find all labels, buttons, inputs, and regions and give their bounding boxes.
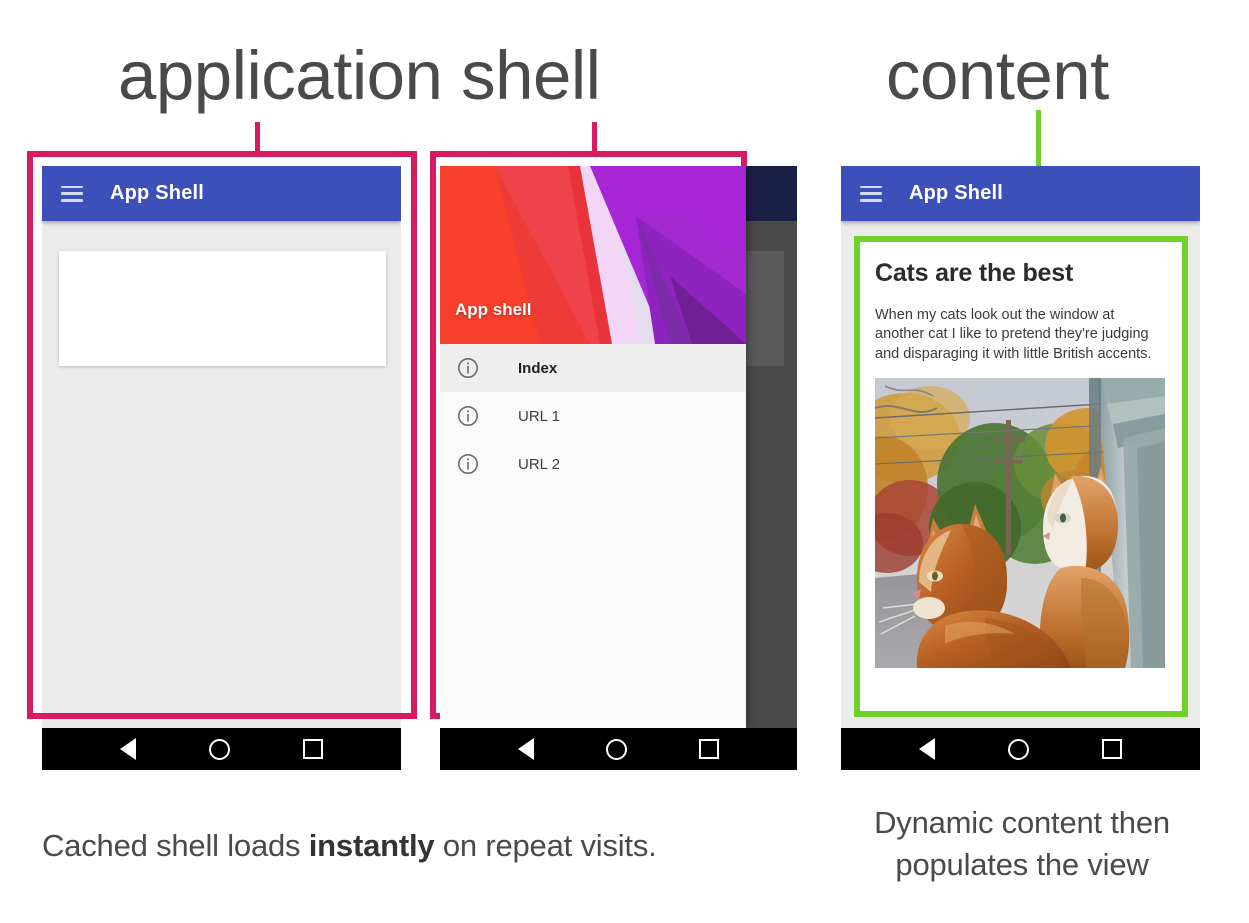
- caption-right: Dynamic content then populates the view: [842, 802, 1202, 885]
- article-photo: [875, 378, 1165, 668]
- recent-apps-icon[interactable]: [1102, 739, 1122, 759]
- recent-apps-icon[interactable]: [303, 739, 323, 759]
- drawer-header-title: App shell: [455, 300, 532, 320]
- phone3-screen: App Shell Cats are the best When my cats…: [841, 166, 1200, 728]
- phone1-placeholder-card: [59, 251, 386, 366]
- phone1-android-nav-bar: [42, 728, 401, 770]
- article-card: Cats are the best When my cats look out …: [855, 237, 1185, 717]
- drawer-item-url-2[interactable]: URL 2: [440, 440, 746, 488]
- caption-left: Cached shell loads instantly on repeat v…: [42, 828, 657, 864]
- info-icon: [456, 452, 480, 476]
- phone3-app-bar-title: App Shell: [909, 182, 1003, 205]
- phone2-android-nav-bar: [440, 728, 797, 770]
- phone1-screen: App Shell: [42, 166, 401, 728]
- phone-mockup-with-content: App Shell Cats are the best When my cats…: [841, 166, 1200, 770]
- hamburger-icon[interactable]: [61, 186, 83, 202]
- phone1-app-bar-title: App Shell: [110, 182, 204, 205]
- phone2-screen: App shell Index: [440, 166, 797, 728]
- drawer-item-label: Index: [518, 360, 557, 377]
- back-icon[interactable]: [120, 738, 136, 760]
- caption-left-post: on repeat visits.: [434, 828, 656, 863]
- connector-stem-shell-left: [255, 122, 260, 155]
- cats-at-window-image: [875, 378, 1165, 668]
- phone3-android-nav-bar: [841, 728, 1200, 770]
- drawer-header-image: App shell: [440, 166, 746, 344]
- annotation-label-application-shell: application shell: [118, 36, 601, 116]
- info-icon: [456, 356, 480, 380]
- info-icon: [456, 404, 480, 428]
- article-title: Cats are the best: [875, 259, 1165, 288]
- hamburger-icon[interactable]: [860, 186, 882, 202]
- annotation-label-content: content: [886, 36, 1109, 116]
- back-icon[interactable]: [919, 738, 935, 760]
- caption-left-emphasis: instantly: [309, 828, 435, 863]
- home-icon[interactable]: [1008, 739, 1029, 760]
- back-icon[interactable]: [518, 738, 534, 760]
- phone3-app-bar: App Shell: [841, 166, 1200, 221]
- home-icon[interactable]: [209, 739, 230, 760]
- navigation-drawer: App shell Index: [440, 166, 746, 728]
- drawer-item-url-1[interactable]: URL 1: [440, 392, 746, 440]
- drawer-item-label: URL 1: [518, 408, 560, 425]
- caption-left-pre: Cached shell loads: [42, 828, 309, 863]
- connector-stem-shell-right: [592, 122, 597, 155]
- phone-mockup-empty-shell: App Shell: [42, 166, 401, 770]
- drawer-item-list: Index URL 1: [440, 344, 746, 488]
- phone-mockup-drawer-open: App shell Index: [440, 166, 797, 770]
- drawer-item-label: URL 2: [518, 456, 560, 473]
- article-body-text: When my cats look out the window at anot…: [875, 306, 1165, 364]
- recent-apps-icon[interactable]: [699, 739, 719, 759]
- phone1-app-bar: App Shell: [42, 166, 401, 221]
- drawer-item-index[interactable]: Index: [440, 344, 746, 392]
- home-icon[interactable]: [606, 739, 627, 760]
